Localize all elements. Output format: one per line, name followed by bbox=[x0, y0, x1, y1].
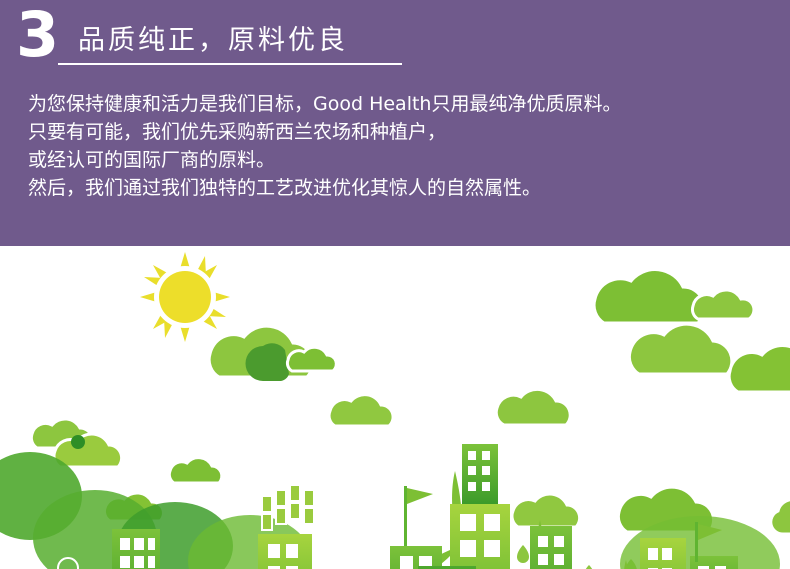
eco-city-illustration bbox=[0, 246, 790, 569]
body-line: 或经认可的国际厂商的原料。 bbox=[28, 146, 780, 174]
page-title: 品质纯正，原料优良 bbox=[78, 26, 348, 56]
body-text-block: 为您保持健康和活力是我们目标，Good Health只用最纯净优质原料。 只要有… bbox=[28, 90, 780, 202]
title-underline-divider bbox=[58, 63, 402, 65]
sun-icon bbox=[140, 252, 230, 342]
body-line: 只要有可能，我们优先采购新西兰农场和种植户， bbox=[28, 118, 780, 146]
section-number: 3 bbox=[16, 4, 58, 66]
body-line: 为您保持健康和活力是我们目标，Good Health只用最纯净优质原料。 bbox=[28, 90, 780, 118]
body-line: 然后，我们通过我们独特的工艺改进优化其惊人的自然属性。 bbox=[28, 174, 780, 202]
purple-banner: 3 品质纯正，原料优良 为您保持健康和活力是我们目标，Good Health只用… bbox=[0, 0, 790, 246]
promo-banner-page: 3 品质纯正，原料优良 为您保持健康和活力是我们目标，Good Health只用… bbox=[0, 0, 790, 569]
